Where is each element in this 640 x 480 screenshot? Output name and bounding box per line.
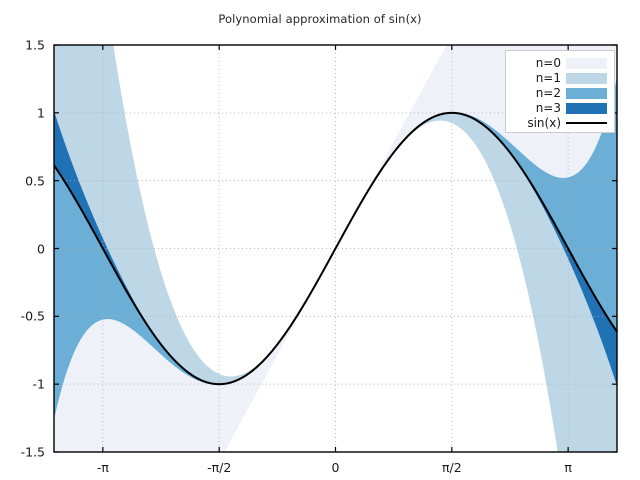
legend-item-n1[interactable]: n=1 bbox=[506, 70, 616, 86]
legend-color-swatch bbox=[566, 103, 607, 114]
chart-figure: Polynomial approximation of sin(x) 1.510… bbox=[0, 0, 640, 480]
legend-label: n=1 bbox=[506, 71, 566, 85]
xtick-label: -π bbox=[97, 460, 109, 475]
xtick-label: π/2 bbox=[442, 460, 462, 475]
legend-color-swatch bbox=[566, 73, 607, 84]
ytick-label: -1 bbox=[0, 377, 45, 392]
legend-item-n2[interactable]: n=2 bbox=[506, 85, 616, 101]
ytick-label: 1 bbox=[0, 105, 45, 120]
ytick-label: -0.5 bbox=[0, 309, 45, 324]
xtick-label: -π/2 bbox=[207, 460, 231, 475]
legend-label: n=3 bbox=[506, 101, 566, 115]
legend-color-swatch bbox=[566, 88, 607, 99]
legend-item-sinx[interactable]: sin(x) bbox=[506, 115, 616, 131]
legend-label: n=0 bbox=[506, 56, 566, 70]
legend-item-n0[interactable]: n=0 bbox=[506, 55, 616, 71]
ytick-label: 1.5 bbox=[0, 38, 45, 53]
ytick-label: 0 bbox=[0, 241, 45, 256]
legend-item-n3[interactable]: n=3 bbox=[506, 100, 616, 116]
legend-line bbox=[566, 122, 607, 124]
chart-legend[interactable]: n=0n=1n=2n=3sin(x) bbox=[505, 50, 615, 133]
ytick-label: -1.5 bbox=[0, 445, 45, 460]
xtick-label: 0 bbox=[332, 460, 340, 475]
xtick-label: π bbox=[564, 460, 572, 475]
ytick-label: 0.5 bbox=[0, 173, 45, 188]
legend-label: n=2 bbox=[506, 86, 566, 100]
legend-line-sample bbox=[566, 118, 607, 129]
legend-color-swatch bbox=[566, 58, 607, 69]
legend-label: sin(x) bbox=[506, 116, 566, 130]
